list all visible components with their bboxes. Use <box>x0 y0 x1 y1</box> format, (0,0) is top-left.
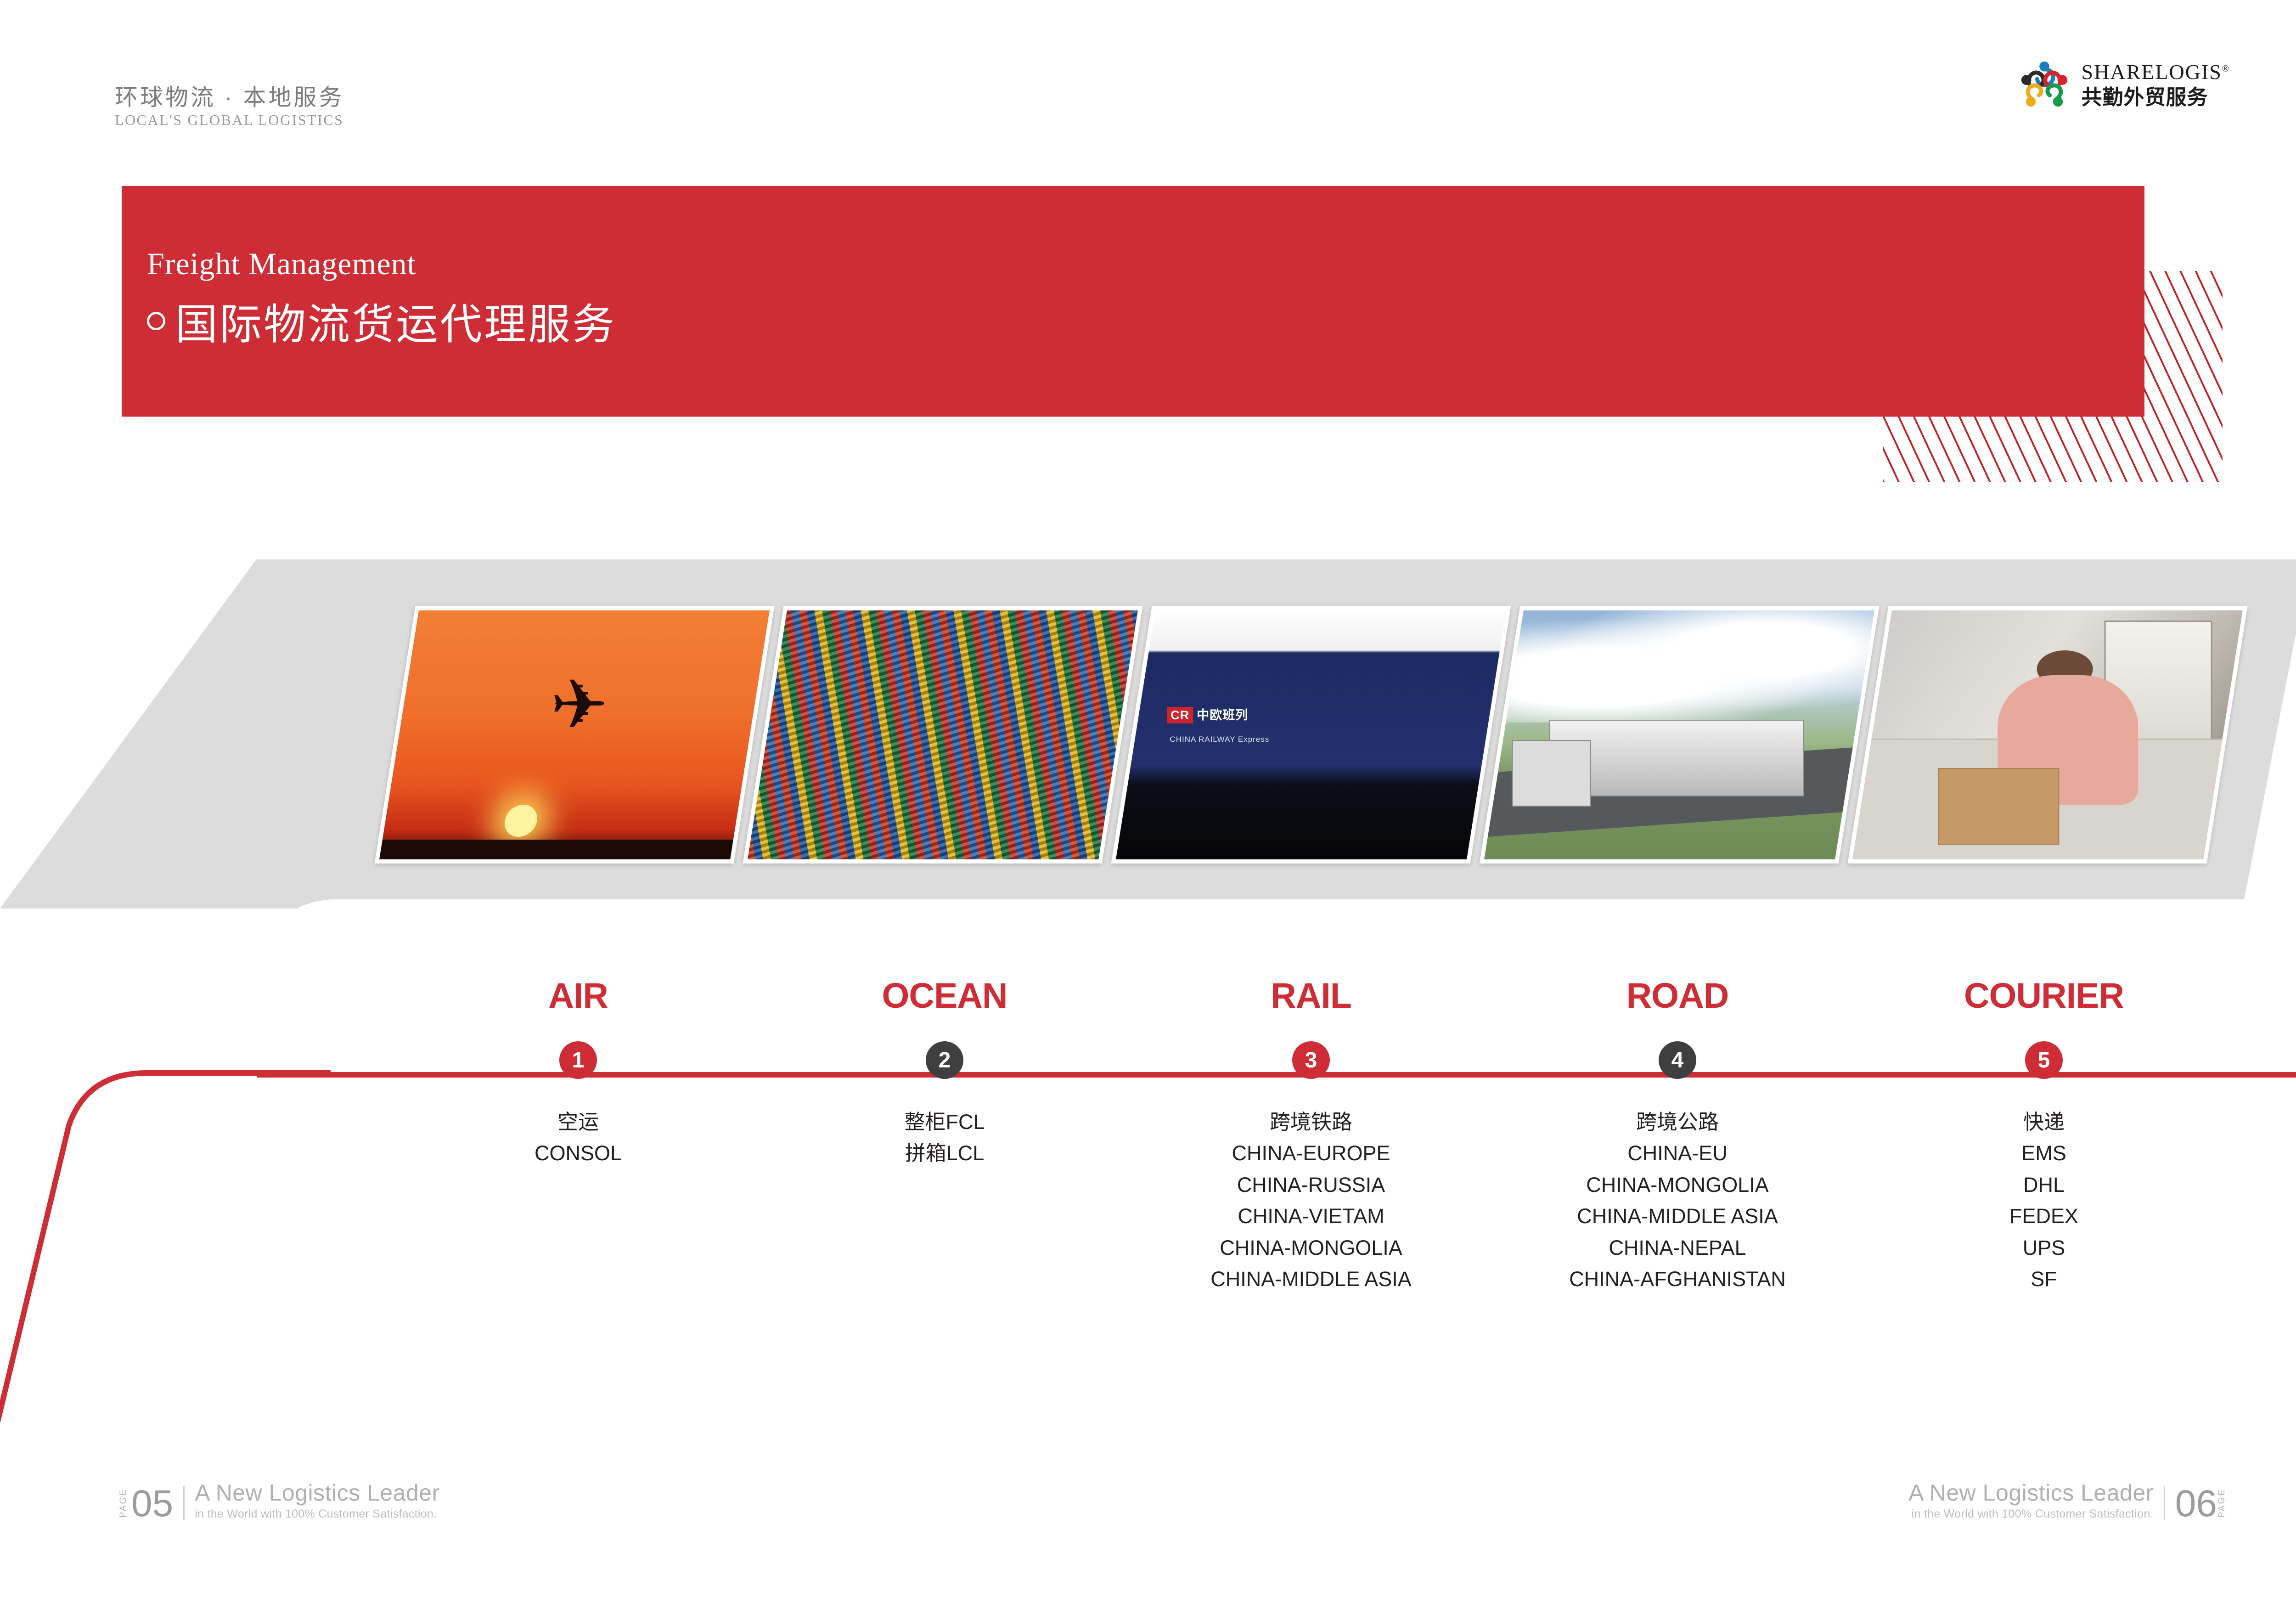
list-item: CONSOL <box>535 1138 622 1169</box>
sharelogis-people-icon <box>2017 57 2071 112</box>
mode-title: AIR <box>548 978 608 1014</box>
list-item: UPS <box>2009 1232 2078 1264</box>
mode-list: 跨境公路 CHINA-EU CHINA-MONGOLIA CHINA-MIDDL… <box>1569 1106 1786 1295</box>
mode-badge: 1 <box>559 1041 597 1079</box>
air-photo-image: ✈ <box>379 610 770 859</box>
mode-title: ROAD <box>1626 978 1729 1014</box>
footer-tagline-line2: in the World with 100% Customer Satisfac… <box>195 1507 440 1520</box>
list-item: CHINA-MIDDLE ASIA <box>1569 1201 1786 1232</box>
mode-title: RAIL <box>1271 978 1351 1014</box>
rail-container-submark: CHINA RAILWAY Express <box>1170 735 1270 744</box>
footer-tagline-line2: in the World with 100% Customer Satisfac… <box>1908 1507 2154 1520</box>
courier-photo <box>1848 606 2248 864</box>
horizon-band <box>379 840 733 859</box>
list-item: 拼箱LCL <box>904 1138 985 1169</box>
list-item: CHINA-MONGOLIA <box>1210 1232 1412 1264</box>
mode-road[interactable]: ROAD 4 跨境公路 CHINA-EU CHINA-MONGOLIA CHIN… <box>1494 978 1861 1295</box>
list-item: CHINA-EUROPE <box>1210 1138 1412 1169</box>
air-photo: ✈ <box>375 606 775 864</box>
footer-divider <box>183 1486 185 1520</box>
page-label: PAGE <box>118 1489 129 1518</box>
footer-tagline-line1: A New Logistics Leader <box>195 1480 440 1506</box>
list-item: CHINA-NEPAL <box>1569 1232 1786 1264</box>
mode-badge: 3 <box>1292 1041 1330 1079</box>
mode-air[interactable]: AIR 1 空运 CONSOL <box>395 978 761 1295</box>
banner-title-cn-row: 国际物流货运代理服务 <box>147 290 616 351</box>
courier-photo-image <box>1852 610 2243 859</box>
mode-badge: 5 <box>2025 1041 2063 1079</box>
registered-icon: ® <box>2222 64 2230 74</box>
road-photo-image <box>1484 610 1874 859</box>
list-item: 空运 <box>535 1106 622 1138</box>
brand-name-en: SHARELOGIS® <box>2082 62 2230 83</box>
list-item: 跨境铁路 <box>1210 1106 1412 1138</box>
slide-root: 环球物流 · 本地服务 LOCAL'S GLOBAL LOGISTICS <box>0 0 2296 1585</box>
list-item: DHL <box>2009 1169 2078 1201</box>
banner-text: Freight Management 国际物流货运代理服务 <box>147 246 616 351</box>
truck-cab-icon <box>1512 740 1591 807</box>
footer-tagline: A New Logistics Leader in the World with… <box>1908 1480 2154 1520</box>
footer-left: PAGE 05 A New Logistics Leader in the Wo… <box>118 1480 440 1520</box>
rail-container-mark: CR中欧班列 <box>1167 705 1248 723</box>
mode-courier[interactable]: COURIER 5 快递 EMS DHL FEDEX UPS SF <box>1861 978 2227 1295</box>
list-item: 整柜FCL <box>904 1106 985 1138</box>
list-item: 跨境公路 <box>1569 1106 1786 1138</box>
mode-rail[interactable]: RAIL 3 跨境铁路 CHINA-EUROPE CHINA-RUSSIA CH… <box>1128 978 1494 1295</box>
mode-list: 空运 CONSOL <box>535 1106 622 1169</box>
mode-title: COURIER <box>1964 978 2124 1014</box>
mode-badge: 4 <box>1659 1041 1696 1079</box>
brand-text: SHARELOGIS® 共勤外贸服务 <box>2082 62 2230 107</box>
list-item: CHINA-MONGOLIA <box>1569 1169 1786 1201</box>
list-item: CHINA-VIETAM <box>1210 1201 1412 1232</box>
footer-tagline: A New Logistics Leader in the World with… <box>195 1480 440 1520</box>
airplane-icon: ✈ <box>550 665 608 745</box>
tagline-english: LOCAL'S GLOBAL LOGISTICS <box>115 113 344 128</box>
mode-badge: 2 <box>926 1041 963 1079</box>
list-item: EMS <box>2009 1138 2078 1169</box>
page-number: 05 <box>131 1488 173 1520</box>
mode-title: OCEAN <box>882 978 1007 1014</box>
brand-name-cn: 共勤外贸服务 <box>2082 87 2230 107</box>
sun-icon <box>502 805 540 837</box>
banner-title-cn: 国际物流货运代理服务 <box>175 290 616 351</box>
transport-modes: AIR 1 空运 CONSOL OCEAN 2 整柜FCL 拼箱LCL RAIL… <box>395 978 2227 1295</box>
list-item: CHINA-MIDDLE ASIA <box>1210 1264 1412 1295</box>
tagline: 环球物流 · 本地服务 LOCAL'S GLOBAL LOGISTICS <box>115 85 344 128</box>
footer-tagline-line1: A New Logistics Leader <box>1908 1480 2154 1506</box>
footer-right: A New Logistics Leader in the World with… <box>1908 1480 2230 1520</box>
mode-list: 跨境铁路 CHINA-EUROPE CHINA-RUSSIA CHINA-VIE… <box>1210 1106 1412 1295</box>
list-item: 快递 <box>2009 1106 2078 1138</box>
brand-logo: SHARELOGIS® 共勤外贸服务 <box>2017 57 2230 112</box>
photo-strip: ✈ CR中欧班列 CHINA RAILWAY Express <box>395 606 2227 864</box>
ocean-photo-image <box>748 610 1138 859</box>
parcel-box-icon <box>1938 768 2059 845</box>
list-item: CHINA-EU <box>1569 1138 1786 1169</box>
page-label: PAGE <box>2217 1489 2227 1518</box>
list-item: FEDEX <box>2009 1201 2078 1232</box>
ring-bullet-icon <box>147 312 165 330</box>
road-photo <box>1480 606 1880 864</box>
rail-photo-image: CR中欧班列 CHINA RAILWAY Express <box>1116 610 1506 859</box>
banner-title-en: Freight Management <box>147 246 616 282</box>
mode-list: 快递 EMS DHL FEDEX UPS SF <box>2009 1106 2078 1295</box>
rail-photo: CR中欧班列 CHINA RAILWAY Express <box>1111 606 1511 864</box>
mode-ocean[interactable]: OCEAN 2 整柜FCL 拼箱LCL <box>761 978 1128 1295</box>
list-item: SF <box>2009 1264 2078 1295</box>
footer-divider <box>2164 1486 2165 1520</box>
list-item: CHINA-RUSSIA <box>1210 1169 1412 1201</box>
clouds-decoration <box>1506 610 1874 722</box>
list-item: CHINA-AFGHANISTAN <box>1569 1264 1786 1295</box>
page-number: 06 <box>2175 1488 2217 1520</box>
mode-list: 整柜FCL 拼箱LCL <box>904 1106 985 1169</box>
tagline-chinese: 环球物流 · 本地服务 <box>115 85 344 110</box>
ocean-photo <box>743 606 1143 864</box>
